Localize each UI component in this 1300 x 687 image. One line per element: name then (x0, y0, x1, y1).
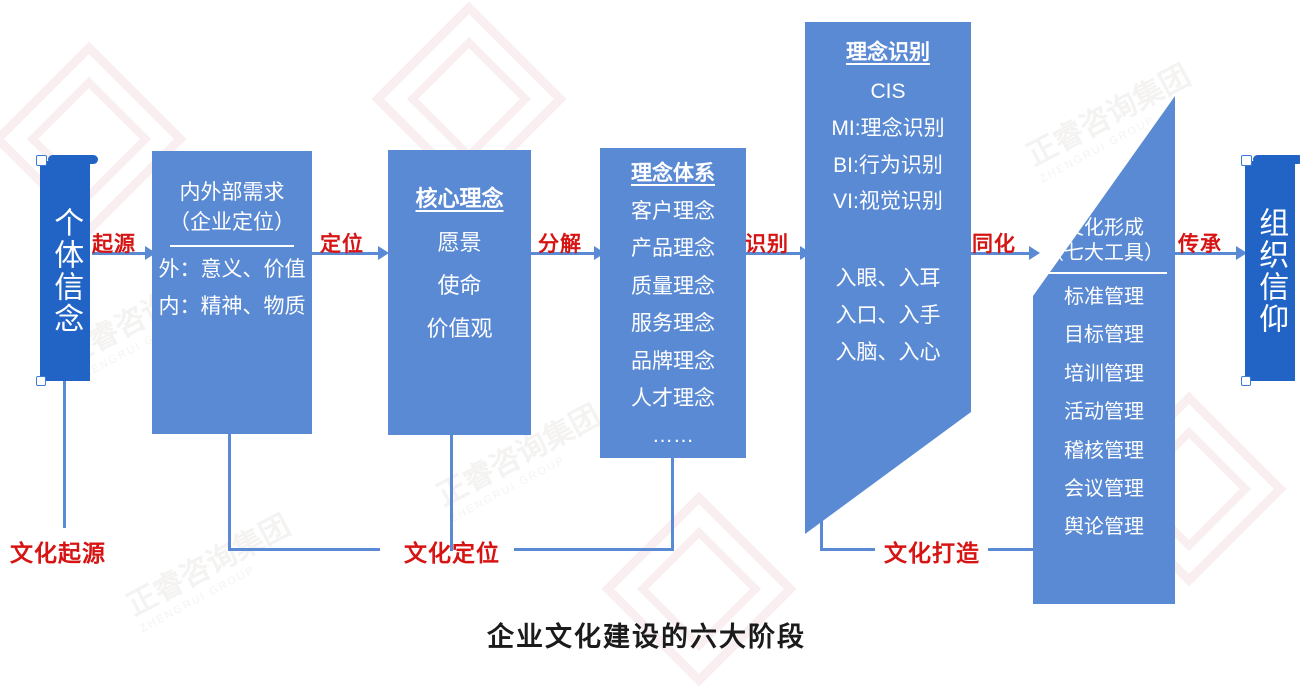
node-culture-formation-line: 舆论管理 (1033, 508, 1175, 546)
node-core-concept[interactable]: 核心理念 愿景 使命 价值观 (388, 150, 531, 435)
node-needs-line: 内：精神、物质 (152, 289, 312, 326)
node-needs-divider (170, 245, 294, 247)
arrow-label-assimilate: 同化 (972, 228, 1016, 258)
node-concept-system-line: 客户理念 (600, 193, 746, 230)
node-culture-formation-line: 标准管理 (1033, 278, 1175, 316)
watermark-text: 正睿咨询集团 ZHENGRUI GROUP (117, 501, 302, 635)
node-needs[interactable]: 内外部需求 （企业定位） 外：意义、价值 内：精神、物质 (152, 151, 312, 434)
node-needs-header-2: （企业定位） (152, 208, 312, 238)
node-core-concept-line: 价值观 (388, 308, 531, 351)
node-needs-line: 外：意义、价值 (152, 252, 312, 289)
selection-handle (1241, 155, 1252, 166)
bracket-line (63, 381, 66, 528)
node-concept-identity-line2: 入脑、入心 (805, 335, 971, 372)
node-concept-identity-line: BI:行为识别 (805, 148, 971, 185)
bracket-line (514, 548, 674, 551)
selection-handle-bar (1253, 155, 1300, 164)
node-concept-identity-line: MI:理念识别 (805, 111, 971, 148)
node-culture-formation[interactable]: 文化形成 （七大工具） 标准管理 目标管理 培训管理 活动管理 稽核管理 会议管… (1033, 216, 1175, 535)
phase-label-building: 文化打造 (884, 534, 980, 568)
watermark-sub: ZHENGRUI GROUP (138, 540, 303, 635)
bracket-line (228, 434, 231, 551)
node-culture-formation-line: 培训管理 (1033, 355, 1175, 393)
arrow-label-decompose: 分解 (538, 228, 582, 258)
selection-handle (1241, 376, 1251, 386)
selection-handle-bar (48, 155, 98, 164)
node-concept-system-line: 质量理念 (600, 268, 746, 305)
node-culture-formation-line: 会议管理 (1033, 470, 1175, 508)
node-core-concept-line: 愿景 (388, 222, 531, 265)
bracket-line (988, 548, 1036, 551)
watermark-diamond (601, 491, 796, 686)
node-concept-identity-line: VI:视觉识别 (805, 184, 971, 221)
phase-label-origin: 文化起源 (10, 534, 106, 568)
node-concept-system[interactable]: 理念体系 客户理念 产品理念 质量理念 服务理念 品牌理念 人才理念 …… (600, 148, 746, 458)
node-org-belief[interactable]: 组织信仰 (1245, 161, 1295, 381)
arrow-label-inherit: 传承 (1178, 228, 1222, 258)
node-concept-system-line: 人才理念 (600, 380, 746, 417)
node-culture-formation-line: 稽核管理 (1033, 432, 1175, 470)
arrow-label-identify: 识别 (745, 228, 789, 258)
watermark-label: 正睿咨询集团 (122, 509, 296, 623)
node-concept-system-line: 品牌理念 (600, 343, 746, 380)
node-concept-system-line: 服务理念 (600, 305, 746, 342)
arrow-label-positioning: 定位 (320, 228, 364, 258)
page-title: 企业文化建设的六大阶段 (487, 615, 806, 654)
selection-handle (36, 376, 46, 386)
node-culture-formation-header-1: 文化形成 (1033, 216, 1175, 241)
node-individual-belief[interactable]: 个体信念 (40, 161, 90, 381)
node-concept-identity-header: 理念识别 (805, 36, 971, 66)
node-individual-belief-label: 个体信念 (40, 161, 90, 381)
node-concept-identity[interactable]: 理念识别 CIS MI:理念识别 BI:行为识别 VI:视觉识别 入眼、入耳 入… (805, 22, 971, 309)
arrow-label-origin: 起源 (92, 228, 136, 258)
phase-label-positioning: 文化定位 (404, 534, 500, 568)
selection-handle (36, 155, 47, 166)
node-culture-formation-line: 活动管理 (1033, 393, 1175, 431)
bracket-line (671, 458, 674, 550)
node-culture-formation-line: 目标管理 (1033, 316, 1175, 354)
node-concept-system-header: 理念体系 (600, 157, 746, 187)
node-concept-identity-line2: 入口、入手 (805, 298, 971, 335)
watermark-sub: ZHENGRUI GROUP (448, 430, 613, 525)
node-culture-formation-header-2: （七大工具） (1033, 241, 1175, 266)
node-core-concept-header: 核心理念 (388, 181, 531, 213)
bracket-line (228, 548, 380, 551)
bracket-line (820, 500, 823, 550)
node-concept-identity-line: CIS (805, 74, 971, 111)
node-concept-system-line: 产品理念 (600, 230, 746, 267)
node-needs-header-1: 内外部需求 (152, 178, 312, 208)
node-culture-formation-divider (1041, 272, 1167, 274)
node-concept-identity-line2: 入眼、入耳 (805, 261, 971, 298)
bracket-line (820, 548, 875, 551)
diagram-canvas: 正睿咨询集团 ZHENGRUI GROUP 正睿咨询集团 ZHENGRUI GR… (0, 0, 1300, 664)
node-concept-system-line: …… (600, 417, 746, 454)
node-org-belief-label: 组织信仰 (1245, 161, 1295, 381)
node-core-concept-line: 使命 (388, 265, 531, 308)
